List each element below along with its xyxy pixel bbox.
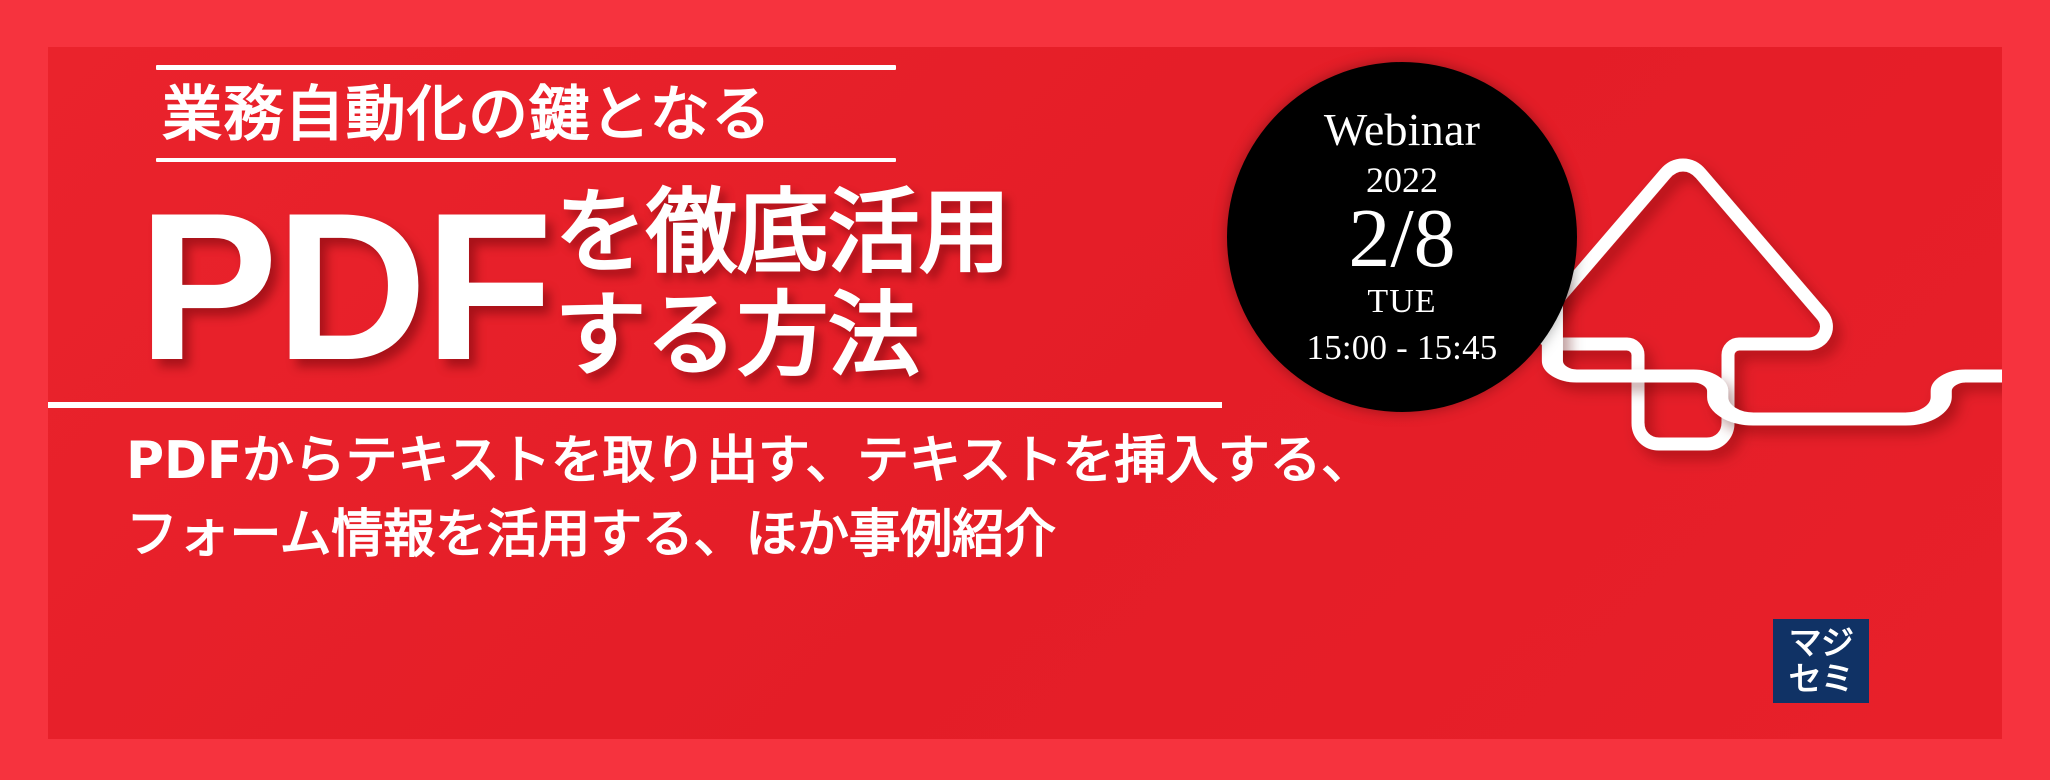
headline-jp-line-2: する方法 bbox=[554, 284, 1009, 387]
eyebrow-text: 業務自動化の鍵となる bbox=[156, 70, 896, 158]
inbox-tray-icon bbox=[1552, 276, 2002, 419]
logo-line-1: マジ bbox=[1789, 625, 1854, 661]
upload-arrow-icon bbox=[1540, 165, 1827, 444]
headline-jp-stack: を徹底活用 する方法 bbox=[554, 181, 1009, 387]
headline-jp-line-1: を徹底活用 bbox=[554, 181, 1009, 284]
webinar-banner: 業務自動化の鍵となる PDF を徹底活用 する方法 bbox=[0, 0, 2050, 780]
lead-line-2: フォーム情報を活用する、ほか事例紹介 bbox=[126, 499, 1726, 573]
headline-keyword-pdf: PDF bbox=[138, 189, 550, 384]
magiseminar-logo[interactable]: マジ セミ bbox=[1773, 619, 1869, 703]
eyebrow-rule-bottom bbox=[156, 158, 896, 162]
logo-line-2: セミ bbox=[1789, 661, 1854, 697]
headline-separator-rule bbox=[48, 402, 1222, 408]
lead-description: PDFからテキストを取り出す、テキストを挿入する、 フォーム情報を活用する、ほか… bbox=[126, 425, 1726, 573]
webinar-weekday: TUE bbox=[1367, 283, 1436, 320]
webinar-day: 2/8 bbox=[1348, 197, 1455, 281]
lead-line-1: PDFからテキストを取り出す、テキストを挿入する、 bbox=[126, 425, 1726, 499]
banner-panel: 業務自動化の鍵となる PDF を徹底活用 する方法 bbox=[48, 47, 2002, 739]
headline: PDF を徹底活用 する方法 bbox=[138, 175, 1010, 387]
webinar-time: 15:00 - 15:45 bbox=[1307, 329, 1498, 368]
webinar-date-circle: Webinar 2022 2/8 TUE 15:00 - 15:45 bbox=[1227, 62, 1577, 412]
webinar-label: Webinar bbox=[1324, 106, 1480, 155]
eyebrow-block: 業務自動化の鍵となる bbox=[156, 65, 896, 162]
